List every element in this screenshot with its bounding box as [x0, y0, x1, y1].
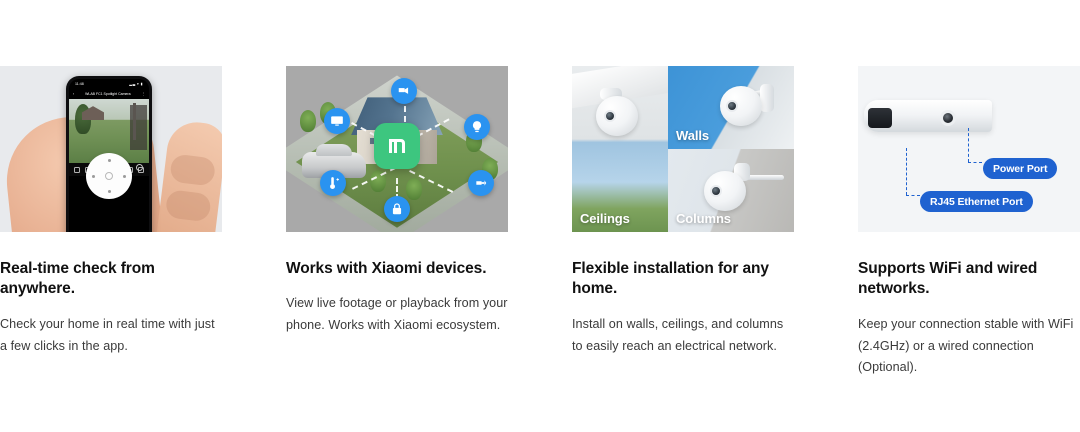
video-post — [133, 103, 136, 140]
feature-card-flexible-installation: Ceilings Walls — [572, 66, 794, 379]
cable-ports-image: Power Port RJ45 Ethernet Port — [858, 66, 1080, 232]
ptz-down-icon[interactable] — [108, 190, 111, 193]
panel-ceilings: Ceilings — [572, 66, 668, 232]
phone-in-hand-image: 11:48 ▂▃ ▾ ▮ ‹ WLAB FC1 Spotlight Camera… — [0, 66, 222, 232]
installation-collage-image: Ceilings Walls — [572, 66, 794, 232]
phone-status-bar: 11:48 ▂▃ ▾ ▮ — [69, 79, 149, 88]
mi-home-logo — [374, 123, 420, 169]
rj45-leader-line — [906, 148, 907, 195]
caption-wifi-and-wired: Supports WiFi and wired networks. Keep y… — [858, 232, 1080, 379]
body-text: Install on walls, ceilings, and columns … — [572, 314, 794, 357]
caption-realtime-check: Real-time check from anywhere. Check you… — [0, 232, 222, 357]
back-arrow-icon[interactable]: ‹ — [73, 92, 74, 96]
ptz-dpad[interactable] — [86, 153, 132, 199]
caption-xiaomi-ecosystem: Works with Xiaomi devices. View live foo… — [286, 232, 508, 337]
headline: Supports WiFi and wired networks. — [858, 259, 1080, 300]
feature-card-wifi-and-wired: Power Port RJ45 Ethernet Port Supports W… — [858, 66, 1080, 379]
more-options-icon[interactable]: ⋮ — [142, 92, 146, 96]
ptz-up-icon[interactable] — [108, 159, 111, 162]
ptz-center-icon[interactable] — [105, 172, 113, 180]
ptz-left-icon[interactable] — [92, 175, 95, 178]
panel-columns: Columns — [668, 149, 794, 232]
monitor-icon — [324, 108, 350, 134]
lock-icon — [384, 196, 410, 222]
camera-mount — [760, 84, 774, 112]
camera-lens — [710, 185, 722, 197]
headline: Real-time check from anywhere. — [0, 259, 222, 300]
hand-right — [154, 119, 222, 232]
smartphone-device: 11:48 ▂▃ ▾ ▮ ‹ WLAB FC1 Spotlight Camera… — [66, 76, 152, 232]
badge-rj45-port: RJ45 Ethernet Port — [920, 191, 1033, 212]
app-title: WLAB FC1 Spotlight Camera — [77, 92, 138, 96]
power-leader-line — [968, 162, 982, 163]
thermometer-icon — [320, 170, 346, 196]
rotate-icon[interactable] — [74, 167, 80, 173]
cable-tail — [962, 66, 1080, 100]
status-signal-icons: ▂▃ ▾ ▮ — [129, 82, 143, 86]
app-title-bar: ‹ WLAB FC1 Spotlight Camera ⋮ — [69, 88, 149, 99]
body-text: Check your home in real time with just a… — [0, 314, 222, 357]
lightbulb-icon — [464, 114, 490, 140]
plug-icon — [468, 170, 494, 196]
badge-power-port: Power Port — [983, 158, 1057, 179]
camera-icon — [391, 78, 417, 104]
camera-body — [596, 96, 638, 136]
phone-screen: 11:48 ▂▃ ▾ ▮ ‹ WLAB FC1 Spotlight Camera… — [69, 79, 149, 232]
ptz-right-icon[interactable] — [123, 175, 126, 178]
status-time: 11:48 — [75, 82, 84, 86]
caption-flexible-installation: Flexible installation for any home. Inst… — [572, 232, 794, 357]
power-leader-line — [968, 128, 969, 162]
headline: Flexible installation for any home. — [572, 259, 794, 300]
rj45-connector — [868, 108, 892, 128]
panel-walls: Walls — [668, 66, 794, 149]
feature-card-xiaomi-ecosystem: Works with Xiaomi devices. View live foo… — [286, 66, 508, 379]
feature-columns: 11:48 ▂▃ ▾ ▮ ‹ WLAB FC1 Spotlight Camera… — [0, 66, 1080, 379]
panel-label-ceilings: Ceilings — [580, 211, 630, 226]
dc-power-jack — [940, 110, 956, 126]
panel-label-walls: Walls — [676, 128, 709, 143]
iso-tree — [406, 178, 422, 200]
feature-card-realtime-check: 11:48 ▂▃ ▾ ▮ ‹ WLAB FC1 Spotlight Camera… — [0, 66, 222, 379]
feature-grid-page: 11:48 ▂▃ ▾ ▮ ‹ WLAB FC1 Spotlight Camera… — [0, 0, 1080, 432]
body-text: Keep your connection stable with WiFi (2… — [858, 314, 1080, 379]
panel-label-columns: Columns — [676, 211, 731, 226]
rj45-leader-line — [906, 195, 920, 196]
iso-tree — [300, 110, 316, 132]
camera-lens — [726, 100, 738, 112]
camera-lens — [604, 110, 616, 122]
body-text: View live footage or playback from your … — [286, 293, 508, 336]
smart-home-ecosystem-image — [286, 66, 508, 232]
headline: Works with Xiaomi devices. — [286, 259, 508, 279]
settings-icon[interactable] — [136, 164, 143, 171]
